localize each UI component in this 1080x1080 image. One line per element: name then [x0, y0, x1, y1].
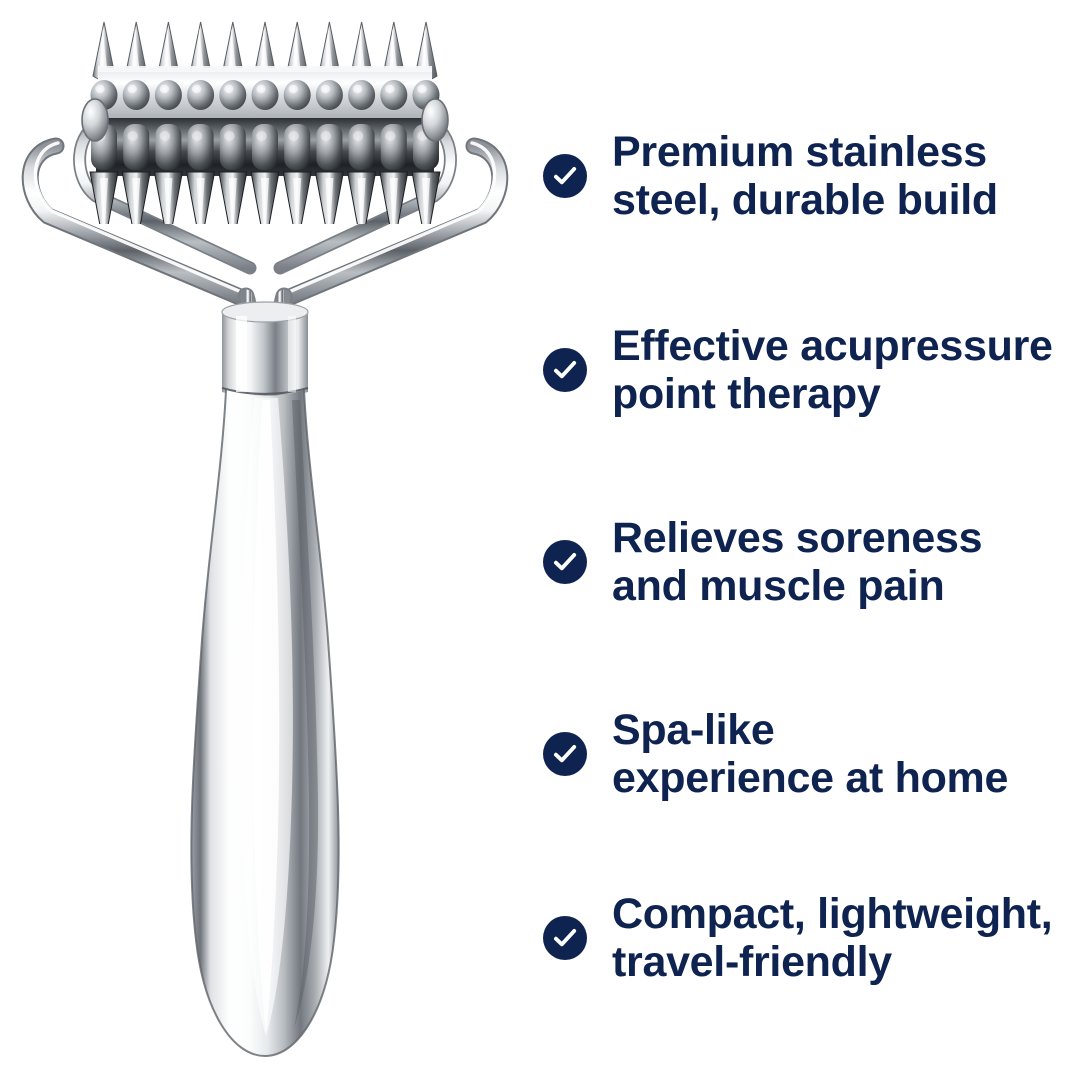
- check-circle-icon: [543, 540, 587, 584]
- product-image-panel: [0, 0, 530, 1080]
- benefit-label: Compact, lightweight, travel-friendly: [612, 890, 1080, 986]
- benefit-item-relieves-soreness: Relieves soreness and muscle pain: [543, 514, 1080, 610]
- check-circle-icon: [543, 348, 587, 392]
- infographic-canvas: Premium stainless steel, durable build E…: [0, 0, 1080, 1080]
- roller-handle: [191, 390, 338, 1056]
- spike-row-lower: [90, 172, 440, 238]
- check-circle-icon: [543, 154, 587, 198]
- benefit-item-acupressure-therapy: Effective acupressure point therapy: [543, 322, 1080, 418]
- check-circle-icon: [543, 732, 587, 776]
- benefits-list: Premium stainless steel, durable build E…: [530, 0, 1080, 1080]
- benefit-item-spa-like-experience: Spa-like experience at home: [543, 706, 1080, 802]
- benefit-item-premium-stainless-steel: Premium stainless steel, durable build: [543, 128, 1080, 224]
- spiked-roller-head: [90, 22, 440, 238]
- benefit-label: Spa-like experience at home: [612, 706, 1080, 802]
- benefit-label: Effective acupressure point therapy: [612, 322, 1080, 418]
- benefit-label: Relieves soreness and muscle pain: [612, 514, 1080, 610]
- nub-row-upper: [91, 80, 440, 110]
- benefit-label: Premium stainless steel, durable build: [612, 128, 1080, 224]
- benefit-item-compact-travel-friendly: Compact, lightweight, travel-friendly: [543, 890, 1080, 986]
- nub-row-middle: [91, 124, 439, 170]
- massage-roller-product-illustration: [0, 0, 530, 1080]
- handle-collar: [222, 302, 308, 398]
- check-circle-icon: [543, 916, 587, 960]
